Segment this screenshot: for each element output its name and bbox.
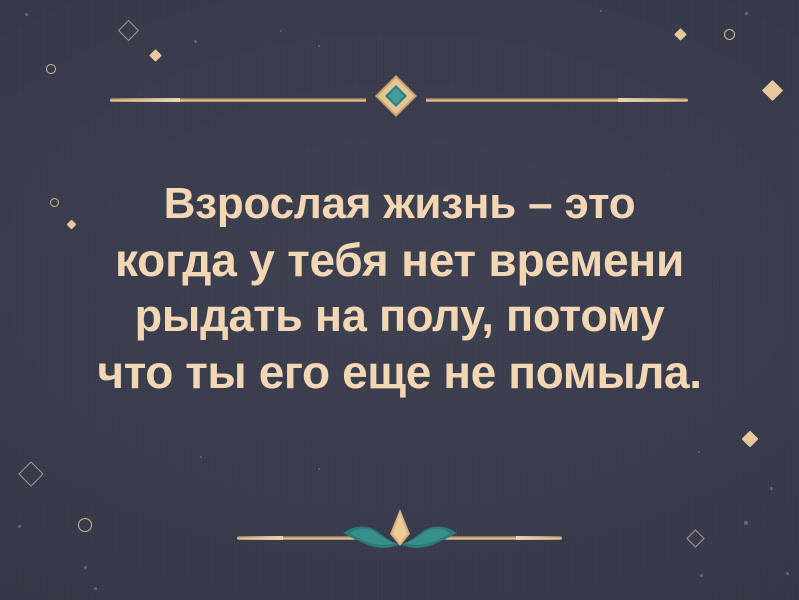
ring-small-icon xyxy=(46,64,56,74)
quote-line-1: Взрослая жизнь – это xyxy=(0,176,799,232)
lotus-left-wing-highlight-shape xyxy=(350,529,396,545)
diamond-small-icon xyxy=(674,28,687,41)
ring-small-icon xyxy=(724,29,735,40)
dot-tiny-icon xyxy=(25,13,28,16)
dot-tiny-icon xyxy=(84,566,87,569)
quote-line-2: когда у тебя нет времени xyxy=(0,232,799,288)
diamond-small-icon xyxy=(742,431,759,448)
bottom-divider-rule-right-taper xyxy=(516,536,562,540)
quote-line-4: что ты его еще не помыла. xyxy=(0,344,799,400)
dot-tiny-icon xyxy=(200,456,202,458)
dot-tiny-icon xyxy=(786,572,789,575)
diamond-small-icon xyxy=(149,49,162,62)
quote-card: Взрослая жизнь – это когда у тебя нет вр… xyxy=(0,0,799,600)
dot-tiny-icon xyxy=(600,10,602,12)
dot-tiny-icon xyxy=(18,525,21,528)
dot-tiny-icon xyxy=(745,12,748,15)
lotus-right-wing-highlight-shape xyxy=(404,529,450,545)
dot-tiny-icon xyxy=(318,468,320,470)
diamond-divider-ornament xyxy=(374,74,418,118)
dot-tiny-icon xyxy=(770,487,773,490)
dot-tiny-icon xyxy=(318,45,320,47)
quote-text: Взрослая жизнь – это когда у тебя нет вр… xyxy=(0,176,799,400)
dot-tiny-icon xyxy=(698,451,700,453)
dot-tiny-icon xyxy=(94,587,97,590)
dot-tiny-icon xyxy=(280,30,282,32)
quote-line-3: рыдать на полу, потому xyxy=(0,288,799,344)
ring-medium-icon xyxy=(78,518,92,532)
dot-tiny-icon xyxy=(194,40,197,43)
dot-tiny-icon xyxy=(700,574,703,577)
diamond-outline-icon xyxy=(118,20,139,41)
diamond-outline-icon xyxy=(18,461,43,486)
bottom-divider-rule-left-taper xyxy=(237,536,283,540)
diamond-outline-icon xyxy=(686,529,704,547)
top-divider-rule-right-taper xyxy=(618,98,688,102)
diamond-medium-icon xyxy=(762,80,783,101)
top-divider-rule-left-taper xyxy=(110,98,180,102)
dot-tiny-icon xyxy=(744,521,748,525)
lotus-divider-ornament xyxy=(340,506,460,552)
